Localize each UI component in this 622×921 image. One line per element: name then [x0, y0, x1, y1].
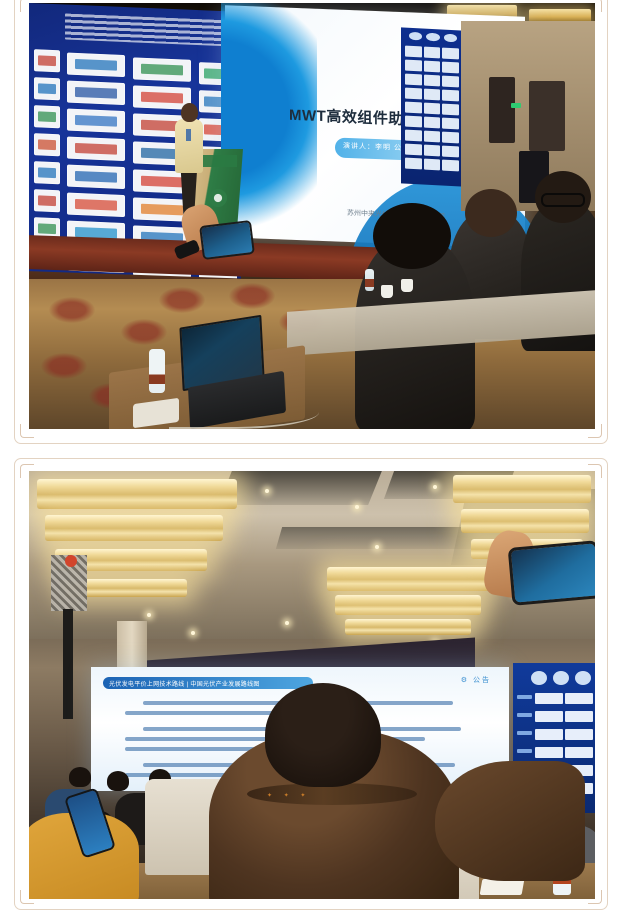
- sponsor-logo: [67, 165, 125, 189]
- podium-nameplate: [201, 155, 237, 167]
- chandelier-icon: [37, 479, 237, 509]
- chandelier-icon: [335, 595, 481, 615]
- ceiling-beam: [218, 471, 382, 505]
- chandelier-icon: [345, 619, 471, 635]
- sponsor-logo: [34, 77, 60, 100]
- sponsor-logo: [67, 137, 125, 161]
- raised-arm: [435, 761, 585, 881]
- truss-pole: [63, 609, 73, 719]
- water-bottle: [365, 269, 374, 291]
- teacup: [401, 279, 413, 292]
- attendee-head: [107, 771, 129, 791]
- water-bottle: [149, 349, 165, 393]
- slide-corner-icon: ⚙ 公告: [461, 675, 491, 685]
- sponsor-logo: [34, 49, 60, 72]
- door-opening: [529, 81, 565, 151]
- sponsor-logo: [34, 189, 60, 212]
- smartphone-screen: [201, 222, 252, 258]
- conference-audience-photo[interactable]: 光伏发电平价上网技术路线 | 中国光伏产业发展路线图 ⚙ 公告: [29, 471, 595, 899]
- truss-light-icon: [65, 555, 77, 567]
- slide-heading: 光伏发电平价上网技术路线 | 中国光伏产业发展路线图: [109, 679, 260, 688]
- led-panel-logos: [531, 671, 591, 685]
- sponsor-logo: [67, 81, 125, 105]
- photo-card-1[interactable]: ⚙ 公告 MWT高效组件助力分布式、BIPV市场 演讲人：李明 公司：苏州某某 …: [14, 0, 608, 444]
- speaker-head: [181, 103, 198, 122]
- conference-speaker-photo[interactable]: ⚙ 公告 MWT高效组件助力分布式、BIPV市场 演讲人：李明 公司：苏州某某 …: [29, 3, 595, 429]
- eyeglasses-icon: [541, 193, 585, 207]
- speaker-torso: [175, 119, 203, 173]
- speaker-badge: [186, 129, 191, 141]
- side-led-panel: [401, 27, 463, 186]
- collar-print: ✦ ✦ ✦: [267, 792, 310, 799]
- sponsor-logo: [67, 53, 125, 77]
- sponsor-logo: [34, 161, 60, 184]
- foreground-attendee-head: [373, 203, 451, 269]
- foreground-attendee-head: [265, 683, 381, 787]
- sponsor-logo: [133, 57, 191, 81]
- teacup: [381, 285, 393, 298]
- notepad: [480, 879, 525, 895]
- door-opening: [489, 77, 515, 143]
- podium-emblem-icon: [209, 189, 227, 207]
- chandelier-icon: [453, 475, 591, 503]
- exit-sign-icon: [511, 103, 521, 108]
- chandelier-icon: [327, 567, 489, 591]
- attendee-head: [69, 767, 91, 787]
- sponsor-logo: [34, 105, 60, 128]
- sponsor-wall-headline: [65, 14, 225, 47]
- chandelier-icon: [461, 509, 589, 533]
- attendee-head: [465, 189, 517, 237]
- smartphone-screen: [511, 543, 595, 602]
- sponsor-logo: [67, 193, 125, 217]
- sponsor-logo: [34, 133, 60, 156]
- chandelier-icon: [45, 515, 223, 541]
- photo-gallery-page: ⚙ 公告 MWT高效组件助力分布式、BIPV市场 演讲人：李明 公司：苏州某某 …: [0, 0, 622, 921]
- sponsor-logo: [67, 109, 125, 133]
- photo-card-2[interactable]: 光伏发电平价上网技术路线 | 中国光伏产业发展路线图 ⚙ 公告: [14, 458, 608, 910]
